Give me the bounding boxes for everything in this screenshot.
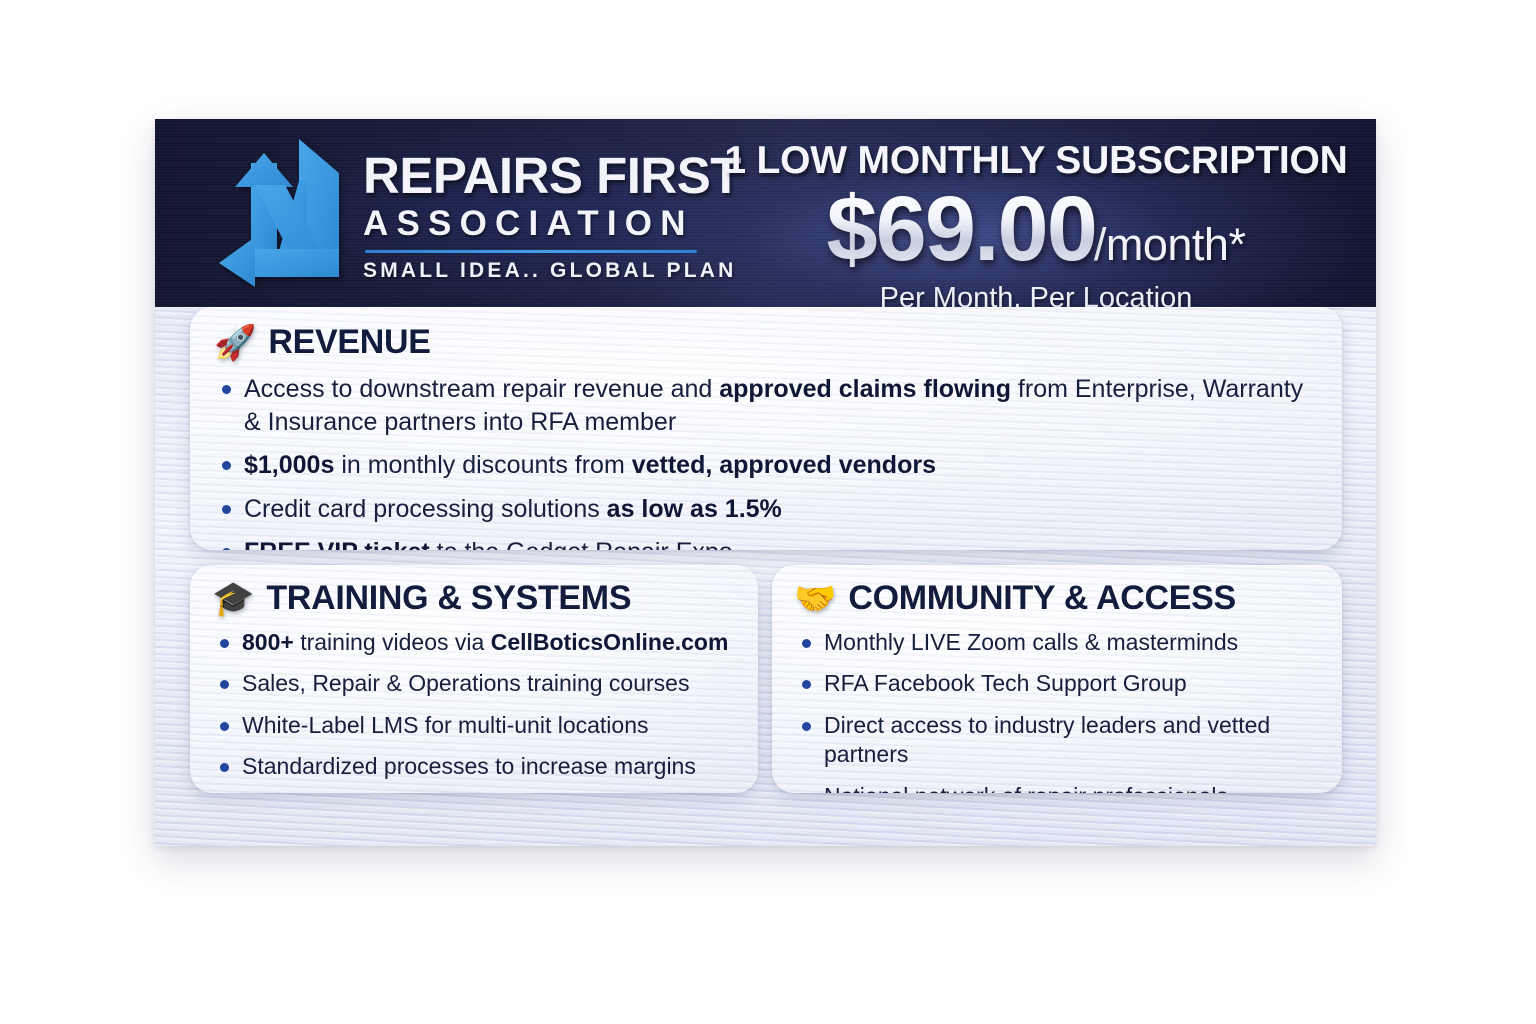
list-item-text: in monthly discounts from	[334, 451, 631, 479]
panel-training-bullet-list: 800+ training videos via CellBoticsOnlin…	[212, 628, 738, 782]
brand-name-primary: REPAIRS FIRST	[363, 150, 741, 201]
list-item-emphasis: FREE VIP ticket	[244, 538, 430, 550]
list-item: National network of repair professionals	[794, 782, 1322, 793]
brand-name-secondary: ASSOCIATION	[363, 203, 741, 245]
list-item: Standardized processes to increase margi…	[212, 752, 738, 781]
list-item-text: Standardized processes to increase margi…	[242, 753, 696, 779]
pricing-block: 1 LOW MONTHLY SUBSCRIPTION $69.00 /month…	[721, 139, 1351, 315]
list-item-text: Credit card processing solutions	[244, 495, 607, 523]
rfa-r-monogram-icon	[215, 137, 347, 289]
panel-revenue-title: REVENUE	[268, 323, 430, 362]
graduation-cap-icon: 🎓	[212, 582, 254, 616]
panel-revenue: 🚀 REVENUE Access to downstream repair re…	[190, 307, 1342, 550]
panel-community-header: 🤝 COMMUNITY & ACCESS	[794, 579, 1322, 618]
list-item-emphasis: $1,000s	[244, 451, 334, 479]
brand-tagline: SMALL IDEA.. GLOBAL PLAN	[363, 259, 741, 283]
list-item: White-Label LMS for multi-unit locations	[212, 711, 738, 740]
panel-community-access: 🤝 COMMUNITY & ACCESS Monthly LIVE Zoom c…	[772, 565, 1342, 793]
brand-wordmark: REPAIRS FIRST ASSOCIATION SMALL IDEA.. G…	[363, 144, 741, 283]
list-item: Direct access to industry leaders and ve…	[794, 711, 1322, 770]
list-item-text: training videos via	[294, 629, 491, 655]
list-item: Access to downstream repair revenue and …	[214, 373, 1316, 438]
list-item-emphasis: approved claims flowing	[719, 375, 1011, 403]
pricing-amount: $69.00	[827, 181, 1096, 278]
brand-logo-block: REPAIRS FIRST ASSOCIATION SMALL IDEA.. G…	[215, 137, 741, 289]
list-item-emphasis: as low as 1.5%	[607, 495, 782, 523]
flyer-header-band: REPAIRS FIRST ASSOCIATION SMALL IDEA.. G…	[155, 119, 1376, 307]
pricing-headline: 1 LOW MONTHLY SUBSCRIPTION	[721, 139, 1351, 183]
list-item-emphasis: vetted, approved vendors	[632, 451, 936, 479]
list-item: $1,000s in monthly discounts from vetted…	[214, 449, 1316, 482]
panel-training-title: TRAINING & SYSTEMS	[266, 579, 631, 618]
list-item-text: to the Gadget Repair Expo	[430, 538, 733, 550]
list-item: Credit card processing solutions as low …	[214, 493, 1316, 526]
list-item-emphasis: 800+	[242, 629, 294, 655]
panel-community-bullet-list: Monthly LIVE Zoom calls & mastermindsRFA…	[794, 628, 1322, 793]
list-item-text: White-Label LMS for multi-unit locations	[242, 712, 649, 738]
list-item: Monthly LIVE Zoom calls & masterminds	[794, 628, 1322, 657]
pricing-amount-row: $69.00 /month*	[721, 181, 1351, 278]
panel-training-systems: 🎓 TRAINING & SYSTEMS 800+ training video…	[190, 565, 758, 793]
membership-flyer-card: REPAIRS FIRST ASSOCIATION SMALL IDEA.. G…	[155, 119, 1376, 846]
list-item-text: RFA Facebook Tech Support Group	[824, 670, 1187, 696]
brand-divider-rule	[365, 250, 697, 253]
pricing-period: /month*	[1094, 219, 1246, 271]
list-item: 800+ training videos via CellBoticsOnlin…	[212, 628, 738, 657]
list-item-text: Access to downstream repair revenue and	[244, 375, 719, 403]
list-item: Sales, Repair & Operations training cour…	[212, 669, 738, 698]
list-item-text: Monthly LIVE Zoom calls & masterminds	[824, 629, 1238, 655]
panel-community-title: COMMUNITY & ACCESS	[848, 579, 1236, 618]
list-item: FREE VIP ticket to the Gadget Repair Exp…	[214, 536, 1316, 550]
list-item-text: National network of repair professionals	[824, 783, 1228, 793]
panel-revenue-bullet-list: Access to downstream repair revenue and …	[214, 373, 1316, 550]
list-item-emphasis: CellBoticsOnline.com	[491, 629, 729, 655]
handshake-icon: 🤝	[794, 582, 836, 616]
list-item: RFA Facebook Tech Support Group	[794, 669, 1322, 698]
panel-training-header: 🎓 TRAINING & SYSTEMS	[212, 579, 738, 618]
list-item-text: Sales, Repair & Operations training cour…	[242, 670, 689, 696]
rocket-icon: 🚀	[214, 326, 256, 360]
list-item-text: Direct access to industry leaders and ve…	[824, 712, 1270, 767]
panel-revenue-header: 🚀 REVENUE	[214, 323, 1316, 362]
